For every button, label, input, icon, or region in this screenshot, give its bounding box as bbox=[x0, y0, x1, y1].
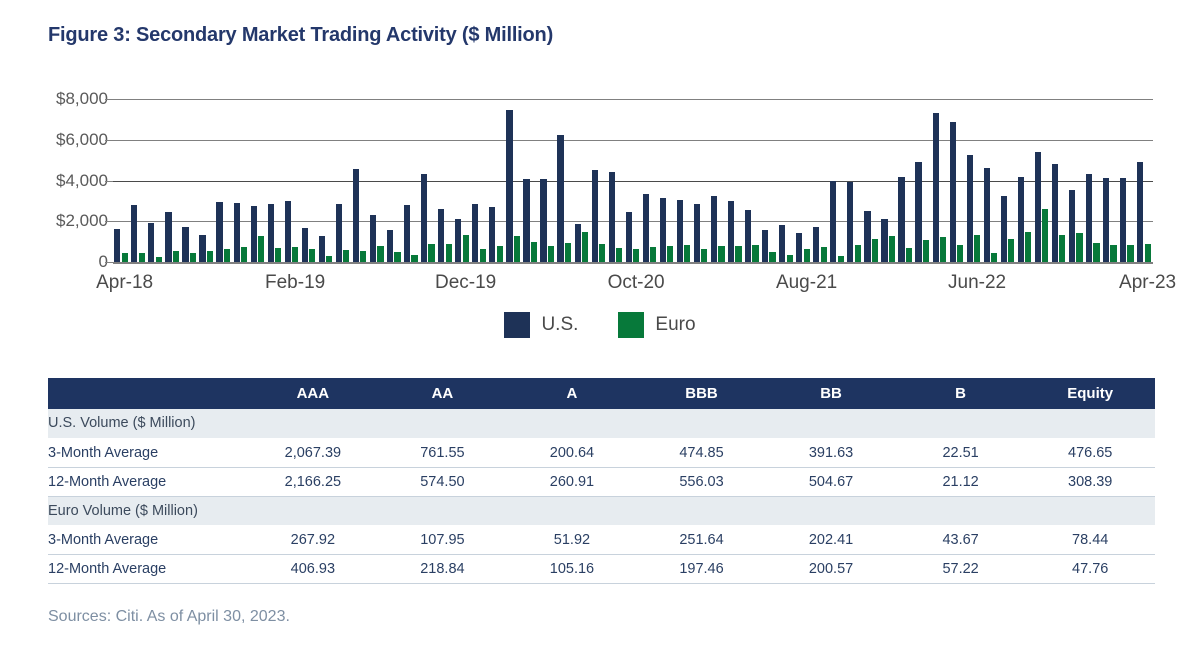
bar-euro bbox=[684, 245, 690, 262]
bar-group bbox=[352, 99, 369, 262]
bar-euro bbox=[838, 256, 844, 262]
bar-euro bbox=[565, 243, 571, 262]
source-note: Sources: Citi. As of April 30, 2023. bbox=[48, 608, 290, 626]
table-cell-value: 200.64 bbox=[507, 438, 637, 467]
bar-group bbox=[761, 99, 778, 262]
bar-group bbox=[642, 99, 659, 262]
bar-euro bbox=[1127, 245, 1133, 262]
bar-us bbox=[438, 209, 444, 262]
bar-euro bbox=[360, 251, 366, 262]
summary-table: AAAAAABBBBBBEquity U.S. Volume ($ Millio… bbox=[48, 378, 1155, 584]
bar-us bbox=[677, 200, 683, 262]
x-axis-tick-label: Oct-20 bbox=[608, 272, 665, 294]
table-row: 3-Month Average2,067.39761.55200.64474.8… bbox=[48, 438, 1155, 467]
bar-euro bbox=[326, 256, 332, 262]
bar-us bbox=[148, 223, 154, 262]
table-column-header: A bbox=[507, 378, 637, 409]
bar-us bbox=[881, 219, 887, 262]
table-cell-value: 105.16 bbox=[507, 554, 637, 583]
bar-group bbox=[948, 99, 965, 262]
table-column-header: BBB bbox=[637, 378, 767, 409]
table-cell-value: 267.92 bbox=[248, 525, 378, 554]
bar-us bbox=[199, 235, 205, 263]
chart-legend: U.S.Euro bbox=[0, 312, 1200, 338]
bar-us bbox=[216, 202, 222, 262]
table-group-row: U.S. Volume ($ Million) bbox=[48, 409, 1155, 438]
bar-group bbox=[266, 99, 283, 262]
bar-euro bbox=[1076, 233, 1082, 262]
table-cell-value: 406.93 bbox=[248, 554, 378, 583]
bar-euro bbox=[1008, 239, 1014, 262]
bar-euro bbox=[923, 240, 929, 262]
bar-group bbox=[488, 99, 505, 262]
bar-group bbox=[1051, 99, 1068, 262]
bar-us bbox=[387, 230, 393, 262]
table-cell-value: 2,166.25 bbox=[248, 467, 378, 496]
x-axis-tick-label: Dec-19 bbox=[435, 272, 496, 294]
bar-us bbox=[830, 181, 836, 262]
bar-group bbox=[1102, 99, 1119, 262]
bar-euro bbox=[1025, 232, 1031, 262]
bar-euro bbox=[411, 255, 417, 262]
bar-us bbox=[540, 179, 546, 262]
bar-chart: 0$2,000$4,000$6,000$8,000 bbox=[0, 86, 1200, 286]
table-cell-value: 78.44 bbox=[1025, 525, 1155, 554]
bar-us bbox=[1103, 178, 1109, 262]
bar-us bbox=[864, 211, 870, 262]
table-cell-value: 202.41 bbox=[766, 525, 896, 554]
bar-group bbox=[1119, 99, 1136, 262]
bar-euro bbox=[821, 247, 827, 262]
bar-us bbox=[1069, 190, 1075, 262]
y-axis-tickmark bbox=[105, 181, 113, 182]
table-row: 12-Month Average406.93218.84105.16197.46… bbox=[48, 554, 1155, 583]
table-cell-value: 251.64 bbox=[637, 525, 767, 554]
figure-container: Figure 3: Secondary Market Trading Activ… bbox=[0, 0, 1200, 650]
y-axis-tickmark bbox=[105, 221, 113, 222]
bar-group bbox=[198, 99, 215, 262]
bar-us bbox=[302, 228, 308, 262]
table-cell-value: 574.50 bbox=[378, 467, 508, 496]
bar-euro bbox=[394, 252, 400, 262]
bar-euro bbox=[173, 251, 179, 262]
x-axis-tick-label: Apr-18 bbox=[96, 272, 153, 294]
bar-us bbox=[711, 196, 717, 262]
table-row: 3-Month Average267.92107.9551.92251.6420… bbox=[48, 525, 1155, 554]
table-cell-value: 391.63 bbox=[766, 438, 896, 467]
bar-group bbox=[863, 99, 880, 262]
bar-euro bbox=[889, 236, 895, 262]
bar-us bbox=[1001, 196, 1007, 262]
table-header: AAAAAABBBBBBEquity bbox=[48, 378, 1155, 409]
bar-us bbox=[285, 201, 291, 262]
bar-us bbox=[728, 201, 734, 262]
bar-group bbox=[983, 99, 1000, 262]
bar-group bbox=[1068, 99, 1085, 262]
x-axis-tick-label: Aug-21 bbox=[776, 272, 837, 294]
bar-us bbox=[984, 168, 990, 262]
plot-area bbox=[113, 99, 1153, 262]
bar-euro bbox=[309, 249, 315, 262]
bar-group bbox=[607, 99, 624, 262]
y-axis-tick-label: $6,000 bbox=[56, 130, 108, 150]
bar-series-container bbox=[113, 99, 1153, 262]
y-axis-tickmark bbox=[105, 262, 113, 263]
bar-euro bbox=[156, 257, 162, 262]
table-column-header: B bbox=[896, 378, 1026, 409]
y-axis-tick-label: $2,000 bbox=[56, 211, 108, 231]
bar-us bbox=[523, 179, 529, 262]
bar-group bbox=[318, 99, 335, 262]
table-cell-value: 761.55 bbox=[378, 438, 508, 467]
bar-us bbox=[1120, 178, 1126, 262]
bar-euro bbox=[718, 246, 724, 262]
bar-euro bbox=[701, 249, 707, 262]
table-cell-value: 197.46 bbox=[637, 554, 767, 583]
bar-us bbox=[268, 204, 274, 262]
bar-us bbox=[660, 198, 666, 262]
bar-group bbox=[1000, 99, 1017, 262]
bar-us bbox=[353, 169, 359, 262]
bar-group bbox=[1085, 99, 1102, 262]
bar-us bbox=[847, 182, 853, 262]
bar-us bbox=[694, 204, 700, 262]
bar-euro bbox=[582, 232, 588, 262]
bar-euro bbox=[804, 249, 810, 262]
x-axis-tick-label: Feb-19 bbox=[265, 272, 325, 294]
bar-us bbox=[933, 113, 939, 262]
bar-euro bbox=[139, 253, 145, 262]
table-cell-value: 200.57 bbox=[766, 554, 896, 583]
bar-us bbox=[626, 212, 632, 262]
bar-group bbox=[659, 99, 676, 262]
bar-euro bbox=[190, 253, 196, 262]
table-column-header: BB bbox=[766, 378, 896, 409]
y-axis-tick-label: $8,000 bbox=[56, 89, 108, 109]
table-cell-value: 57.22 bbox=[896, 554, 1026, 583]
bar-us bbox=[779, 225, 785, 262]
bar-euro bbox=[906, 248, 912, 262]
bar-euro bbox=[548, 246, 554, 262]
bar-us bbox=[455, 219, 461, 262]
table-row-label: 3-Month Average bbox=[48, 525, 248, 554]
table-cell-value: 22.51 bbox=[896, 438, 1026, 467]
table-cell-value: 260.91 bbox=[507, 467, 637, 496]
bar-euro bbox=[428, 244, 434, 262]
bar-group bbox=[965, 99, 982, 262]
bar-group bbox=[215, 99, 232, 262]
bar-group bbox=[454, 99, 471, 262]
bar-us bbox=[745, 210, 751, 262]
bar-us bbox=[813, 227, 819, 262]
bar-us bbox=[557, 135, 563, 262]
bar-group bbox=[710, 99, 727, 262]
bar-us bbox=[1086, 174, 1092, 262]
legend-label: U.S. bbox=[541, 314, 578, 336]
x-axis-tick-label: Apr-23 bbox=[1119, 272, 1176, 294]
table-cell-value: 474.85 bbox=[637, 438, 767, 467]
bar-us bbox=[182, 227, 188, 262]
bar-us bbox=[1018, 177, 1024, 262]
bar-group bbox=[573, 99, 590, 262]
bar-group bbox=[727, 99, 744, 262]
table-cell-value: 308.39 bbox=[1025, 467, 1155, 496]
bar-euro bbox=[241, 247, 247, 262]
legend-item[interactable]: U.S. bbox=[504, 312, 578, 338]
bar-euro bbox=[446, 244, 452, 262]
legend-item[interactable]: Euro bbox=[618, 312, 695, 338]
y-axis-tick-label: $4,000 bbox=[56, 171, 108, 191]
bar-us bbox=[114, 229, 120, 262]
bar-euro bbox=[1145, 244, 1151, 262]
legend-label: Euro bbox=[655, 314, 695, 336]
bar-us bbox=[404, 205, 410, 262]
bar-group bbox=[539, 99, 556, 262]
bar-us bbox=[967, 155, 973, 262]
bar-group bbox=[1034, 99, 1051, 262]
y-axis-tickmark bbox=[105, 140, 113, 141]
bar-us bbox=[762, 230, 768, 262]
bar-euro bbox=[377, 246, 383, 262]
bar-group bbox=[181, 99, 198, 262]
table-group-label: U.S. Volume ($ Million) bbox=[48, 409, 1155, 438]
bar-group bbox=[693, 99, 710, 262]
table-cell-value: 556.03 bbox=[637, 467, 767, 496]
bar-us bbox=[506, 110, 512, 262]
bar-euro bbox=[292, 247, 298, 262]
bar-us bbox=[575, 224, 581, 262]
bar-group bbox=[744, 99, 761, 262]
bar-group bbox=[386, 99, 403, 262]
y-axis: 0$2,000$4,000$6,000$8,000 bbox=[36, 86, 108, 266]
bar-euro bbox=[224, 249, 230, 262]
bar-euro bbox=[1042, 209, 1048, 262]
bar-us bbox=[234, 203, 240, 262]
bar-group bbox=[778, 99, 795, 262]
bar-us bbox=[1035, 152, 1041, 262]
table-header-row: AAAAAABBBBBBEquity bbox=[48, 378, 1155, 409]
table-cell-value: 107.95 bbox=[378, 525, 508, 554]
bar-group bbox=[812, 99, 829, 262]
bar-group bbox=[522, 99, 539, 262]
table-column-header: Equity bbox=[1025, 378, 1155, 409]
bar-euro bbox=[991, 253, 997, 262]
bar-euro bbox=[497, 246, 503, 262]
bar-group bbox=[369, 99, 386, 262]
bar-group bbox=[1017, 99, 1034, 262]
bar-group bbox=[931, 99, 948, 262]
bar-us bbox=[131, 205, 137, 262]
table-group-row: Euro Volume ($ Million) bbox=[48, 496, 1155, 525]
bar-us bbox=[592, 170, 598, 262]
bar-group bbox=[403, 99, 420, 262]
bar-euro bbox=[650, 247, 656, 262]
table-cell-value: 2,067.39 bbox=[248, 438, 378, 467]
bar-group bbox=[130, 99, 147, 262]
bar-group bbox=[1136, 99, 1153, 262]
table-cell-value: 21.12 bbox=[896, 467, 1026, 496]
bar-group bbox=[795, 99, 812, 262]
page-title: Figure 3: Secondary Market Trading Activ… bbox=[48, 24, 553, 47]
table-group-label: Euro Volume ($ Million) bbox=[48, 496, 1155, 525]
bar-us bbox=[1052, 164, 1058, 262]
bar-euro bbox=[463, 235, 469, 262]
bar-us bbox=[915, 162, 921, 262]
bar-euro bbox=[514, 236, 520, 262]
bar-us bbox=[336, 204, 342, 262]
bar-euro bbox=[1110, 245, 1116, 262]
table-cell-value: 218.84 bbox=[378, 554, 508, 583]
bar-group bbox=[624, 99, 641, 262]
bar-us bbox=[489, 207, 495, 262]
bar-group bbox=[283, 99, 300, 262]
bar-euro bbox=[787, 255, 793, 262]
bar-group bbox=[829, 99, 846, 262]
x-axis: Apr-18Feb-19Dec-19Oct-20Aug-21Jun-22Apr-… bbox=[0, 272, 1200, 302]
bar-group bbox=[164, 99, 181, 262]
bar-euro bbox=[1059, 235, 1065, 262]
bar-us bbox=[251, 206, 257, 262]
bar-us bbox=[643, 194, 649, 262]
bar-euro bbox=[667, 246, 673, 262]
bar-euro bbox=[735, 246, 741, 262]
bar-us bbox=[472, 204, 478, 262]
bar-us bbox=[1137, 162, 1143, 262]
navy-square-icon bbox=[504, 312, 530, 338]
bar-us bbox=[370, 215, 376, 262]
gridline bbox=[113, 262, 1153, 264]
bar-euro bbox=[258, 236, 264, 262]
bar-euro bbox=[957, 245, 963, 262]
bar-euro bbox=[275, 248, 281, 262]
table-column-header: AAA bbox=[248, 378, 378, 409]
x-axis-tick-label: Jun-22 bbox=[948, 272, 1006, 294]
bar-group bbox=[880, 99, 897, 262]
bar-us bbox=[898, 177, 904, 262]
table-column-header: AA bbox=[378, 378, 508, 409]
bar-us bbox=[319, 236, 325, 262]
y-axis-tickmark bbox=[105, 99, 113, 100]
table-cell-value: 476.65 bbox=[1025, 438, 1155, 467]
bar-us bbox=[609, 172, 615, 262]
bar-euro bbox=[343, 250, 349, 262]
table-row-label: 12-Month Average bbox=[48, 554, 248, 583]
bar-euro bbox=[769, 252, 775, 262]
bar-us bbox=[796, 233, 802, 262]
table-cell-value: 504.67 bbox=[766, 467, 896, 496]
bar-euro bbox=[752, 245, 758, 262]
table-row-label: 3-Month Average bbox=[48, 438, 248, 467]
bar-group bbox=[113, 99, 130, 262]
green-square-icon bbox=[618, 312, 644, 338]
bar-group bbox=[676, 99, 693, 262]
bar-group bbox=[249, 99, 266, 262]
bar-euro bbox=[122, 253, 128, 262]
bar-group bbox=[437, 99, 454, 262]
bar-group bbox=[232, 99, 249, 262]
bar-euro bbox=[1093, 243, 1099, 262]
table-cell-value: 51.92 bbox=[507, 525, 637, 554]
bar-euro bbox=[616, 248, 622, 262]
bar-group bbox=[590, 99, 607, 262]
bar-euro bbox=[872, 239, 878, 262]
bar-us bbox=[950, 122, 956, 262]
bar-group bbox=[471, 99, 488, 262]
table-body: U.S. Volume ($ Million)3-Month Average2,… bbox=[48, 409, 1155, 583]
bar-group bbox=[420, 99, 437, 262]
bar-group bbox=[846, 99, 863, 262]
bar-euro bbox=[531, 242, 537, 262]
bar-euro bbox=[855, 245, 861, 262]
table-row: 12-Month Average2,166.25574.50260.91556.… bbox=[48, 467, 1155, 496]
bar-us bbox=[165, 212, 171, 262]
bar-us bbox=[421, 174, 427, 262]
table-cell-value: 43.67 bbox=[896, 525, 1026, 554]
bar-group bbox=[301, 99, 318, 262]
bar-euro bbox=[480, 249, 486, 262]
bar-group bbox=[556, 99, 573, 262]
bar-group bbox=[914, 99, 931, 262]
bar-euro bbox=[207, 251, 213, 262]
bar-group bbox=[505, 99, 522, 262]
bar-group bbox=[335, 99, 352, 262]
table-cell-value: 47.76 bbox=[1025, 554, 1155, 583]
bar-euro bbox=[633, 249, 639, 262]
bar-euro bbox=[940, 237, 946, 262]
table-row-label: 12-Month Average bbox=[48, 467, 248, 496]
bar-group bbox=[897, 99, 914, 262]
bar-group bbox=[147, 99, 164, 262]
bar-euro bbox=[599, 244, 605, 262]
bar-euro bbox=[974, 235, 980, 262]
table-column-header bbox=[48, 378, 248, 409]
